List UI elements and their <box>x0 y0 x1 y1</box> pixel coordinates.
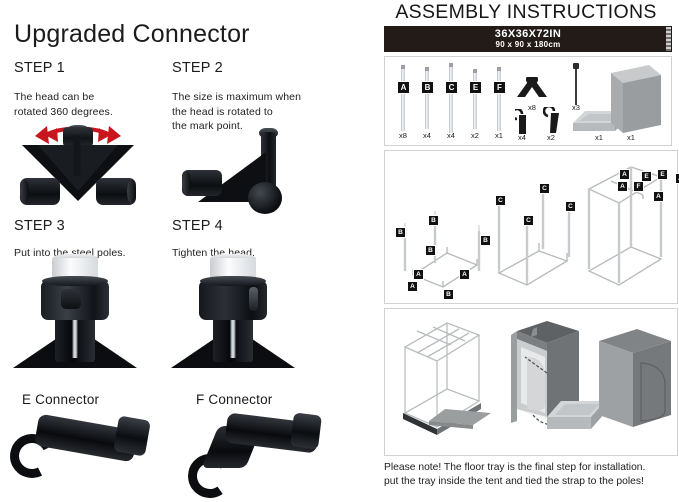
part-qty: x4 <box>512 133 532 142</box>
part-tag: B <box>421 81 434 94</box>
frame-tag: E <box>657 169 668 180</box>
part-qty: x8 <box>393 131 413 140</box>
e-connector-photo <box>8 414 168 480</box>
pole-foot-loose <box>22 258 128 368</box>
frame-tag: C <box>495 195 506 206</box>
f-hook-icon <box>543 107 561 135</box>
banner-edge-stripe <box>666 27 671 51</box>
pole-foot-tightened <box>180 258 286 368</box>
step-2-connector-photo <box>180 128 300 216</box>
size-banner: 36X36X72IN 90 x 90 x 180cm <box>384 26 672 52</box>
step-2-description: The size is maximum when the head is rot… <box>172 90 342 134</box>
part-qty: x4 <box>417 131 437 140</box>
part-tag: A <box>397 81 410 94</box>
frame-tag: C <box>539 183 550 194</box>
part-tag: E <box>469 81 482 94</box>
frame-tag: C <box>565 201 576 212</box>
step-1-connector-photo <box>18 122 138 212</box>
part-qty: x1 <box>489 131 509 140</box>
e-connector-shape <box>8 414 168 480</box>
e-hook-icon <box>515 109 529 135</box>
step-3-pole-photo <box>22 258 128 368</box>
instruction-sheet: Upgraded Connector STEP 1 The head can b… <box>0 0 679 492</box>
part-qty: x2 <box>541 133 561 142</box>
step-3-title: STEP 3 <box>14 218 65 234</box>
base-frame-wireframe <box>391 165 491 295</box>
frame-assembly-box: B B B A A A B B <box>384 150 678 304</box>
frame-tag: A <box>653 191 664 202</box>
frame-with-tray-illustration <box>395 317 495 441</box>
right-panel-assembly-instructions: ASSEMBLY INSTRUCTIONS 36X36X72IN 90 x 90… <box>378 0 679 492</box>
frame-tag: A <box>619 169 630 180</box>
frame-tag: A <box>413 269 424 280</box>
part-tag: F <box>493 81 506 94</box>
parts-list-box: A x8 B x4 C x4 E x2 <box>384 56 672 146</box>
step-1-title: STEP 1 <box>14 60 65 76</box>
size-metric: 90 x 90 x 180cm <box>496 41 561 49</box>
frame-tag: B <box>428 215 439 226</box>
part-qty: x1 <box>621 133 641 142</box>
left-panel-upgraded-connector: Upgraded Connector STEP 1 The head can b… <box>0 0 372 492</box>
frame-tag: F <box>633 181 644 192</box>
step-2-title: STEP 2 <box>172 60 223 76</box>
f-connector-title: F Connector <box>196 392 272 407</box>
tri-connector-top-view <box>18 122 138 212</box>
frame-tag: A <box>459 269 470 280</box>
frame-tag: A <box>407 281 418 292</box>
size-imperial: 36X36X72IN <box>495 29 561 40</box>
step-1-description: The head can be rotated 360 degrees. <box>14 90 164 119</box>
frame-tag: A <box>617 181 628 192</box>
tri-connector-rotated <box>180 128 300 216</box>
tent-cover-icon <box>597 63 663 137</box>
finished-tent-illustration <box>593 323 677 441</box>
frame-tag: B <box>443 289 454 300</box>
step-4-pole-photo <box>180 258 286 368</box>
installation-note: Please note! The floor tray is the final… <box>384 461 676 488</box>
assembly-instructions-title: ASSEMBLY INSTRUCTIONS <box>378 1 674 24</box>
frame-tag: B <box>395 227 406 238</box>
step-4-title: STEP 4 <box>172 218 223 234</box>
frame-tag: A <box>675 173 679 184</box>
top-frame-wireframe <box>581 161 675 295</box>
page-title: Upgraded Connector <box>14 20 250 49</box>
barrel-end-cap <box>290 412 322 449</box>
frame-tag: C <box>523 215 534 226</box>
f-connector-shape <box>178 410 342 488</box>
strap-icon <box>571 63 581 105</box>
e-connector-title: E Connector <box>22 392 99 407</box>
f-connector-photo <box>178 410 342 488</box>
barrel-end-cap <box>113 415 151 456</box>
vertical-poles-wireframe <box>493 165 581 295</box>
final-assembly-box <box>384 308 678 456</box>
frame-tag: B <box>425 245 436 256</box>
frame-tag: B <box>480 235 491 246</box>
part-qty: x4 <box>441 131 461 140</box>
tri-connector-icon <box>513 77 551 101</box>
part-qty: x2 <box>465 131 485 140</box>
part-tag: C <box>445 81 458 94</box>
